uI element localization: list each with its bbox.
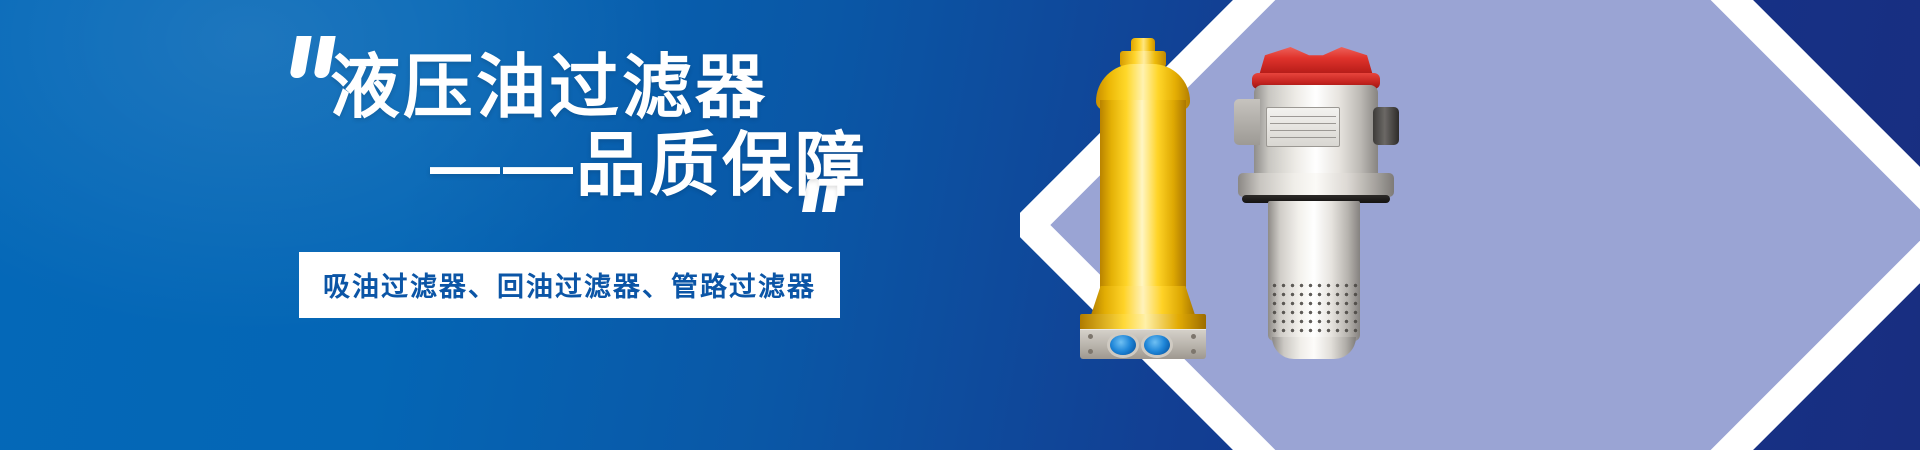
return-filter-mount-flange	[1238, 173, 1394, 197]
yellow-filter-base-plate	[1080, 329, 1206, 359]
base-bolt-1	[1088, 334, 1093, 339]
base-bolt-3	[1191, 334, 1196, 339]
return-filter-nameplate	[1266, 107, 1340, 147]
nameplate-line-2	[1270, 123, 1336, 125]
yellow-filter-port-left	[1110, 335, 1136, 355]
yellow-filter-flange	[1080, 314, 1206, 330]
quote-stroke-1	[289, 36, 311, 78]
headline-line-2: ——品质保障	[330, 126, 890, 204]
headline-block: 液压油过滤器 ——品质保障	[330, 48, 890, 205]
return-filter-tip	[1272, 337, 1356, 359]
product-image-suction-filter	[1068, 38, 1218, 348]
subtitle-bar: 吸油过滤器、回油过滤器、管路过滤器	[299, 252, 840, 318]
nameplate-line-3	[1270, 130, 1336, 132]
product-image-return-filter	[1234, 45, 1424, 375]
yellow-filter-body	[1100, 100, 1186, 296]
base-bolt-2	[1088, 349, 1093, 354]
return-filter-indicator-knob	[1373, 107, 1399, 145]
yellow-filter-port-right	[1144, 335, 1170, 355]
promo-banner: 液压油过滤器 ——品质保障 吸油过滤器、回油过滤器、管路过滤器	[0, 0, 1920, 450]
nameplate-line-1	[1270, 116, 1336, 118]
headline-line-1: 液压油过滤器	[330, 48, 890, 126]
subtitle-text: 吸油过滤器、回油过滤器、管路过滤器	[323, 265, 816, 304]
return-filter-side-port	[1234, 99, 1260, 145]
nameplate-line-4	[1270, 137, 1336, 139]
return-filter-perforations	[1270, 281, 1358, 339]
base-bolt-4	[1191, 349, 1196, 354]
